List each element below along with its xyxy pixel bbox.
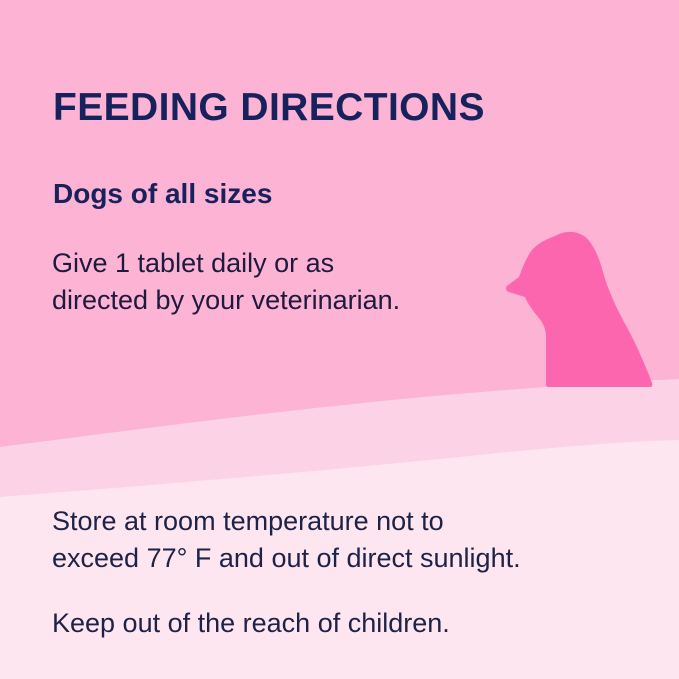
storage-line-2: exceed 77° F and out of direct sunlight. bbox=[52, 540, 622, 577]
children-line-1: Keep out of the reach of children. bbox=[52, 605, 622, 642]
dosage-line-2: directed by your veterinarian. bbox=[52, 282, 482, 319]
section-subtitle-dogs-of-all-sizes: Dogs of all sizes bbox=[53, 177, 272, 211]
keep-out-of-reach-warning-text: Keep out of the reach of children. bbox=[52, 605, 622, 642]
feeding-directions-panel: FEEDING DIRECTIONS Dogs of all sizes Giv… bbox=[0, 0, 679, 679]
dosage-line-1: Give 1 tablet daily or as bbox=[52, 245, 482, 282]
text-content-layer: FEEDING DIRECTIONS Dogs of all sizes Giv… bbox=[0, 0, 679, 679]
page-title: FEEDING DIRECTIONS bbox=[53, 86, 485, 130]
storage-instructions-text: Store at room temperature not to exceed … bbox=[52, 503, 622, 577]
storage-line-1: Store at room temperature not to bbox=[52, 503, 622, 540]
dosage-instructions-text: Give 1 tablet daily or as directed by yo… bbox=[52, 245, 482, 319]
